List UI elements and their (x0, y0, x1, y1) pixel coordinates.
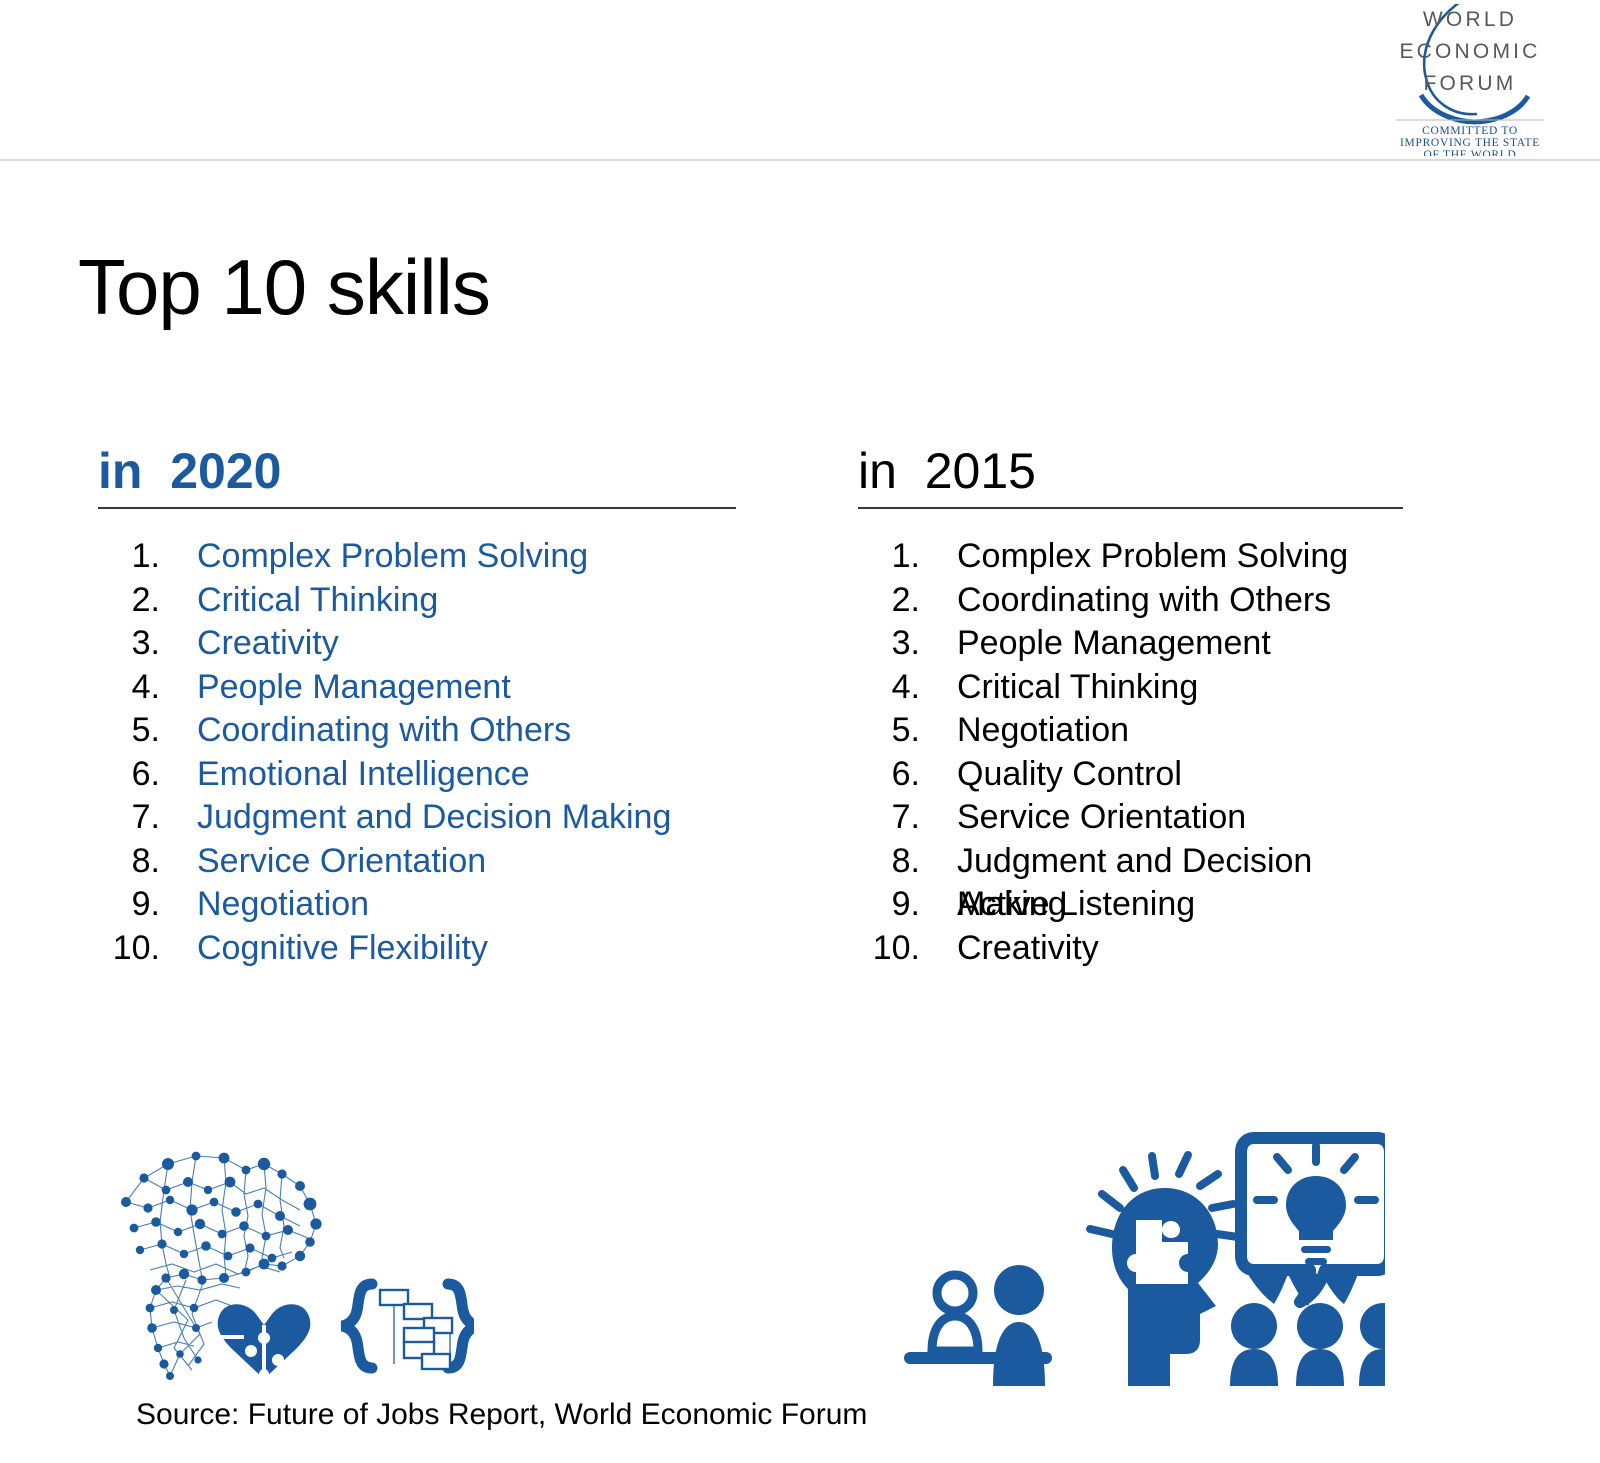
list-item: 2. Critical Thinking (98, 579, 736, 623)
list-item-number: 6. (858, 753, 920, 797)
list-item-label: Negotiation (197, 883, 369, 927)
svg-text:FORUM: FORUM (1424, 72, 1517, 95)
list-item-number: 1. (98, 535, 160, 579)
list-item-number: 8. (858, 840, 920, 884)
list-item-number: 8. (98, 840, 160, 884)
column-2020-rule (98, 507, 736, 509)
people-at-table-icon (904, 1265, 1052, 1386)
lightbulb-icon (1257, 1146, 1375, 1265)
list-item-number: 5. (858, 709, 920, 753)
list-item-label: Complex Problem Solving (957, 535, 1348, 579)
svg-text:IMPROVING THE STATE: IMPROVING THE STATE (1400, 137, 1540, 149)
svg-text:WORLD: WORLD (1423, 8, 1517, 31)
speech-bubble-lightbulb-icon (1241, 1138, 1385, 1306)
column-2015-heading: in 2015 (858, 443, 1403, 507)
list-item: 7. Service Orientation (858, 796, 1403, 840)
list-item-label: People Management (197, 666, 511, 710)
list-item-number: 5. (98, 709, 160, 753)
list-item: 10. Creativity (858, 927, 1403, 971)
list-item-label: Critical Thinking (957, 666, 1198, 710)
skill-list-2015: 1. Complex Problem Solving 2. Coordinati… (858, 535, 1403, 970)
page-title: Top 10 skills (78, 248, 490, 326)
list-item-number: 9. (98, 883, 160, 927)
collaboration-ideas-illustration (880, 1108, 1385, 1386)
column-2020: in 2020 1. Complex Problem Solving 2. Cr… (98, 443, 736, 970)
list-item: 10. Cognitive Flexibility (98, 927, 736, 971)
list-item: 8. Judgment and Decision Making (858, 840, 1403, 884)
list-item: 6. Emotional Intelligence (98, 753, 736, 797)
list-item: 5. Negotiation (858, 709, 1403, 753)
list-item-label: People Management (957, 622, 1271, 666)
list-item-number: 3. (98, 622, 160, 666)
list-item: 1. Complex Problem Solving (858, 535, 1403, 579)
list-item: 1. Complex Problem Solving (98, 535, 736, 579)
list-item: 8. Service Orientation (98, 840, 736, 884)
list-item-label: Negotiation (957, 709, 1129, 753)
list-item: 9. Negotiation (98, 883, 736, 927)
list-item-number: 9. (858, 883, 920, 927)
list-item-label: Coordinating with Others (957, 579, 1331, 623)
list-item-label: Cognitive Flexibility (197, 927, 488, 971)
list-item: 3. People Management (858, 622, 1403, 666)
head-with-puzzle-icon (1090, 1155, 1238, 1386)
list-item-number: 4. (98, 666, 160, 710)
list-item-label: Coordinating with Others (197, 709, 571, 753)
svg-text:COMMITTED TO: COMMITTED TO (1422, 125, 1518, 137)
list-item-label: Creativity (197, 622, 339, 666)
skill-list-2020: 1. Complex Problem Solving 2. Critical T… (98, 535, 736, 970)
list-item-number: 3. (858, 622, 920, 666)
list-item: 4. Critical Thinking (858, 666, 1403, 710)
column-2015-rule (858, 507, 1403, 509)
column-2015: in 2015 1. Complex Problem Solving 2. Co… (858, 443, 1403, 970)
list-item: 4. People Management (98, 666, 736, 710)
flowchart-braces-icon (342, 1284, 474, 1369)
list-item-number: 10. (98, 927, 160, 971)
list-item: 3. Creativity (98, 622, 736, 666)
list-item-label: Quality Control (957, 753, 1182, 797)
list-item-number: 10. (858, 927, 920, 971)
source-note: Source: Future of Jobs Report, World Eco… (136, 1398, 867, 1432)
list-item-number: 7. (858, 796, 920, 840)
column-2020-heading: in 2020 (98, 443, 736, 507)
list-item-number: 7. (98, 796, 160, 840)
list-item-label: Service Orientation (197, 840, 486, 884)
heart-puzzle-icon (218, 1304, 311, 1379)
world-economic-forum-logo: WORLD ECONOMIC FORUM COMMITTED TO IMPROV… (1374, 4, 1564, 156)
list-item-label: Emotional Intelligence (197, 753, 530, 797)
list-item-number: 2. (98, 579, 160, 623)
list-item-label: Critical Thinking (197, 579, 438, 623)
audience-figures-icon (1230, 1303, 1385, 1386)
list-item: 2. Coordinating with Others (858, 579, 1403, 623)
page-header: WORLD ECONOMIC FORUM COMMITTED TO IMPROV… (0, 0, 1600, 161)
list-item-number: 6. (98, 753, 160, 797)
list-item-number: 1. (858, 535, 920, 579)
list-item-label: Active Listening (957, 883, 1195, 927)
svg-text:OF THE WORLD: OF THE WORLD (1424, 149, 1517, 156)
list-item: 6. Quality Control (858, 753, 1403, 797)
list-item-number: 2. (858, 579, 920, 623)
list-item: 7. Judgment and Decision Making (98, 796, 736, 840)
list-item: 5. Coordinating with Others (98, 709, 736, 753)
svg-text:ECONOMIC: ECONOMIC (1399, 40, 1540, 63)
list-item-number: 4. (858, 666, 920, 710)
list-item-label: Service Orientation (957, 796, 1246, 840)
list-item-label: Complex Problem Solving (197, 535, 588, 579)
network-brain-illustration (104, 1138, 474, 1383)
list-item-label: Judgment and Decision Making (197, 796, 671, 840)
list-item-label: Creativity (957, 927, 1099, 971)
